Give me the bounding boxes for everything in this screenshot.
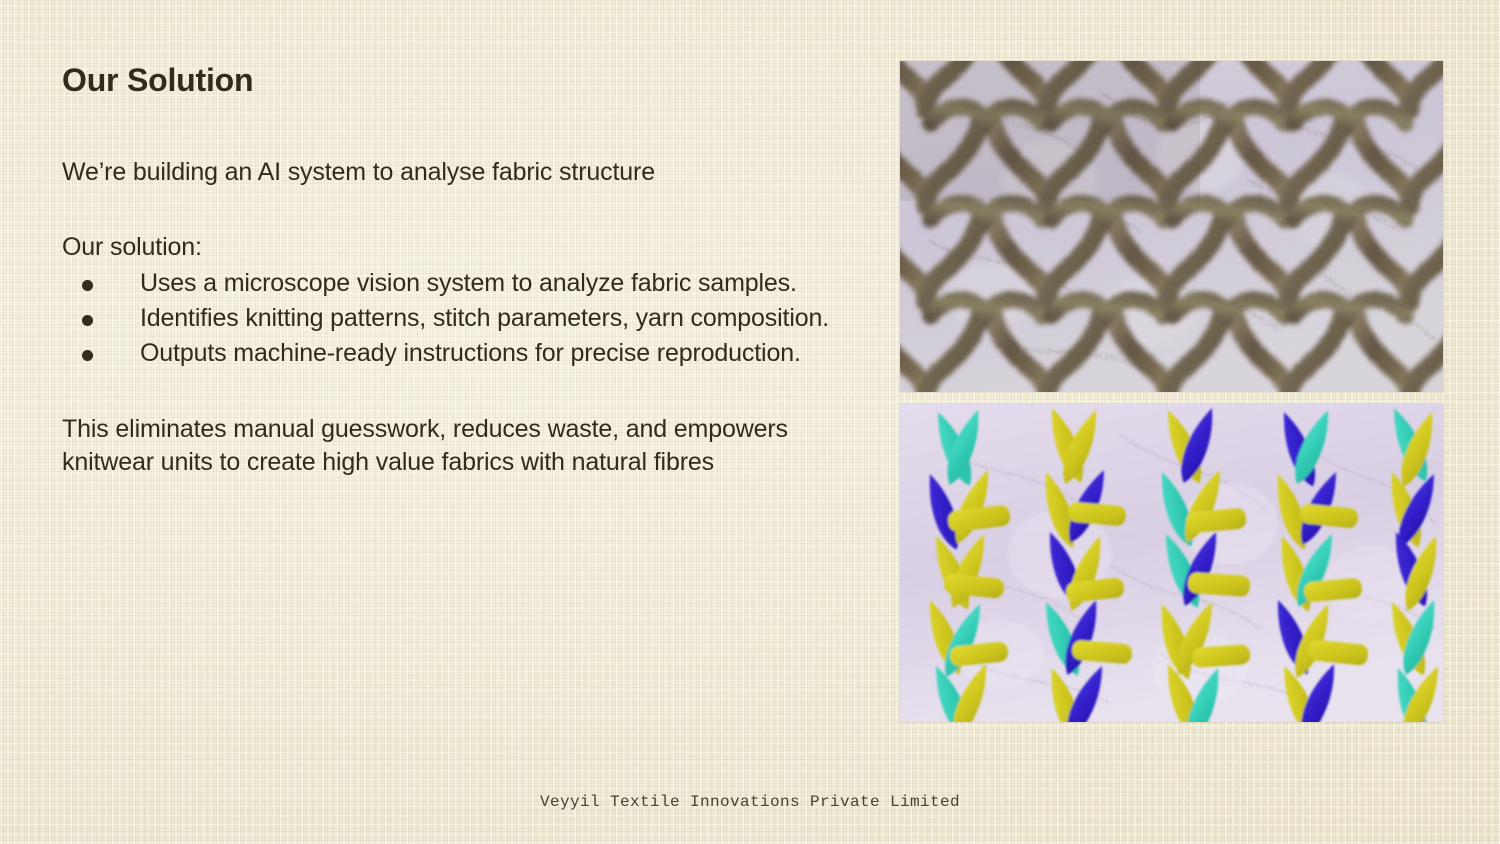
intro-paragraph: We’re building an AI system to analyse f… [62, 156, 722, 189]
list-item-label: Identifies knitting patterns, stitch par… [140, 304, 829, 332]
slide-canvas: Our Solution We’re building an AI system… [0, 0, 1500, 844]
list-item: Outputs machine-ready instructions for p… [62, 337, 852, 370]
bullet-dot-icon [82, 350, 93, 361]
list-item: Uses a microscope vision system to analy… [62, 267, 852, 300]
microscope-knit-fabric-photo [900, 61, 1443, 392]
bullet-list-lead-in: Our solution: [62, 231, 852, 264]
text-column: Our Solution We’re building an AI system… [62, 60, 852, 478]
footer-company-name: Veyyil Textile Innovations Private Limit… [0, 793, 1500, 811]
ai-segmented-knit-fabric [900, 404, 1443, 722]
page-title: Our Solution [62, 60, 852, 100]
bullet-dot-icon [82, 315, 93, 326]
solution-bullet-list: Uses a microscope vision system to analy… [62, 267, 852, 369]
bullet-dot-icon [82, 280, 93, 291]
closing-paragraph: This eliminates manual guesswork, reduce… [62, 413, 802, 478]
list-item-label: Outputs machine-ready instructions for p… [140, 339, 801, 367]
list-item-label: Uses a microscope vision system to analy… [140, 269, 797, 297]
list-item: Identifies knitting patterns, stitch par… [62, 302, 852, 335]
